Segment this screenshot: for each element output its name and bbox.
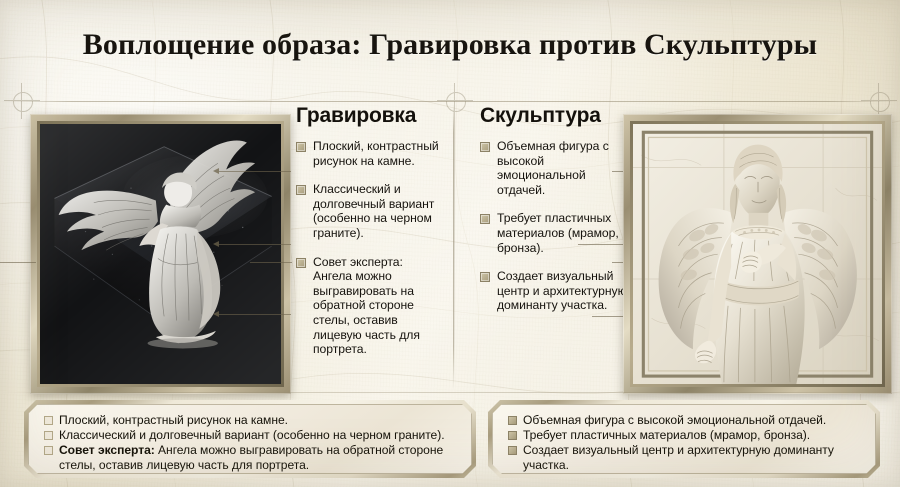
summary-plaque-sculpture: Объемная фигура с высокой эмоциональной … xyxy=(488,400,880,478)
list-item-text: Плоский, контрастный рисунок на камне. xyxy=(313,139,439,168)
square-bullet-icon xyxy=(508,416,517,425)
bottom-rule xyxy=(0,392,900,393)
header: Воплощение образа: Гравировка против Ску… xyxy=(0,0,900,96)
leader-line xyxy=(219,314,291,315)
list-item-text: Требует пластичных материалов (мрамор, б… xyxy=(523,428,810,442)
list-item: Требует пластичных материалов (мрамор, б… xyxy=(508,428,862,443)
leader-line xyxy=(250,262,292,263)
square-bullet-icon xyxy=(44,446,53,455)
list-item: Совет эксперта: Ангела можно выгравирова… xyxy=(44,443,458,473)
engraved-angel-on-black-granite xyxy=(40,124,281,384)
list-item: Плоский, контрастный рисунок на камне. xyxy=(296,139,444,168)
sculpture-image-frame xyxy=(623,114,892,394)
list-item: Плоский, контрастный рисунок на камне. xyxy=(44,413,458,428)
list-item-text: Требует пластичных материалов (мрамор, б… xyxy=(497,211,619,254)
list-item-text: Создает визуальный центр и архитектурную… xyxy=(497,269,627,312)
list-item-lead: Совет эксперта: xyxy=(59,443,155,457)
column-heading-engraving: Гравировка xyxy=(296,104,444,128)
column-heading-sculpture: Скульптура xyxy=(480,104,628,128)
square-bullet-icon xyxy=(480,214,490,224)
list-item-text: Объемная фигура с высокой эмоциональной … xyxy=(523,413,826,427)
summary-plaque-engraving: Плоский, контрастный рисунок на камне. К… xyxy=(24,400,476,478)
square-bullet-icon xyxy=(296,258,306,268)
square-bullet-icon xyxy=(508,446,517,455)
marble-angel-sculpture xyxy=(633,124,882,384)
list-item: Объемная фигура с высокой эмоциональной … xyxy=(508,413,862,428)
leader-line xyxy=(219,171,291,172)
square-bullet-icon xyxy=(296,185,306,195)
square-bullet-icon xyxy=(480,272,490,282)
list-item: Создает визуальный центр и архитектурную… xyxy=(508,443,862,473)
summary-list-engraving: Плоский, контрастный рисунок на камне. К… xyxy=(28,404,472,473)
sculpture-bullet-list: Объемная фигура с высокой эмоциональной … xyxy=(480,139,628,313)
list-item: Классический и долговечный вариант (особ… xyxy=(44,428,458,443)
square-bullet-icon xyxy=(44,416,53,425)
summary-list-sculpture: Объемная фигура с высокой эмоциональной … xyxy=(492,404,876,473)
list-item-text: Объемная фигура с высокой эмоциональной … xyxy=(497,139,609,197)
list-item: Классический и долговечный вариант (особ… xyxy=(296,182,444,240)
list-item: Объемная фигура с высокой эмоциональной … xyxy=(480,139,628,197)
leader-line xyxy=(219,244,291,245)
engraving-image-frame xyxy=(30,114,291,394)
list-item: Совет эксперта: Ангела можно выгравирова… xyxy=(296,255,444,357)
list-item-text: Создает визуальный центр и архитектурную… xyxy=(523,443,834,472)
square-bullet-icon xyxy=(480,142,490,152)
leader-line xyxy=(0,262,36,263)
list-item-text: Плоский, контрастный рисунок на камне. xyxy=(59,413,288,427)
column-sculpture: Скульптура Объемная фигура с высокой эмо… xyxy=(480,104,628,327)
square-bullet-icon xyxy=(508,431,517,440)
slide-canvas: Воплощение образа: Гравировка против Ску… xyxy=(0,0,900,487)
comparison-body: Гравировка Плоский, контрастный рисунок … xyxy=(0,104,900,390)
square-bullet-icon xyxy=(44,431,53,440)
list-item-text: Совет эксперта: Ангела можно выгравирова… xyxy=(313,255,420,357)
summary-strip: Плоский, контрастный рисунок на камне. К… xyxy=(0,396,900,487)
list-item: Создает визуальный центр и архитектурную… xyxy=(480,269,628,313)
list-item: Требует пластичных материалов (мрамор, б… xyxy=(480,211,628,255)
square-bullet-icon xyxy=(296,142,306,152)
list-item-text: Классический и долговечный вариант (особ… xyxy=(59,428,445,442)
column-engraving: Гравировка Плоский, контрастный рисунок … xyxy=(296,104,444,371)
list-item-text: Классический и долговечный вариант (особ… xyxy=(313,182,434,240)
engraving-bullet-list: Плоский, контрастный рисунок на камне. К… xyxy=(296,139,444,357)
page-title: Воплощение образа: Гравировка против Ску… xyxy=(0,28,900,62)
